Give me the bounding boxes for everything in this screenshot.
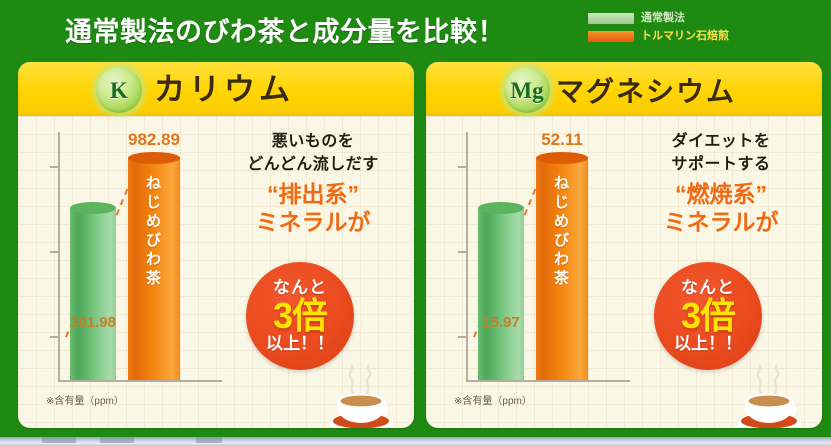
bar-label-char: び [536,231,588,250]
bar-normal-potassium [70,208,116,380]
element-badge-k-icon: K [96,67,142,113]
copy-block-magnesium: ダイエットを サポートする “燃焼系” ミネラルが [626,130,816,236]
bar-body [478,208,524,380]
element-badge-mg-icon: Mg [504,67,550,113]
copy-accent-line: ミネラルが [626,208,816,236]
legend-swatch-normal-icon [588,13,634,24]
legend-item-tourmaline: トルマリン石焙煎 [588,28,788,44]
copy-accent-line: “排出系” [218,180,408,208]
copy-block-potassium: 悪いものを どんどん流しだす “排出系” ミネラルが [218,130,408,236]
bar-label-char: じ [536,193,588,212]
bar-value-normal-potassium: 301.98 [62,314,124,331]
bar-cap [70,202,116,214]
panel-header-magnesium: Mg マグネシウム [426,62,822,116]
legend-label-normal: 通常製法 [641,12,685,24]
bar-label-char: わ [128,250,180,269]
teacup-icon [726,364,812,428]
bar-body [70,208,116,380]
teacup-icon [318,364,404,428]
panel-potassium: K カリウム 301.98 ね じ [18,62,414,428]
bar-label-nejime: ね じ め び わ 茶 [128,174,180,288]
stamp-multiplier: 3倍 [273,297,327,335]
footnote-magnesium: ※含有量（ppm） [454,392,532,407]
bar-label-char: ね [128,174,180,193]
bar-cap [128,152,180,164]
legend: 通常製法 トルマリン石焙煎 [588,10,788,46]
element-symbol-mg: Mg [510,79,543,102]
chrome-nub [42,437,76,443]
stamp-bottom-text: 以上！！ [266,335,334,353]
bar-label-char: 茶 [536,269,588,288]
copy-accent-magnesium: “燃焼系” ミネラルが [626,180,816,236]
bar-value-normal-magnesium: 15.97 [470,314,532,331]
bar-value-nejime-potassium: 982.89 [120,130,188,150]
bar-label-char: じ [128,193,180,212]
copy-accent-potassium: “排出系” ミネラルが [218,180,408,236]
bar-label-char: び [128,231,180,250]
copy-lead-line: どんどん流しだす [218,153,408,176]
copy-accent-line: ミネラルが [218,208,408,236]
footnote-potassium: ※含有量（ppm） [46,392,124,407]
bar-label-char: 茶 [128,269,180,288]
bar-label-char: め [128,212,180,231]
bar-cap [478,202,524,214]
bar-cap [536,152,588,164]
bar-value-nejime-magnesium: 52.11 [528,130,596,150]
legend-label-tourmaline: トルマリン石焙煎 [641,30,729,42]
panel-header-potassium: K カリウム [18,62,414,116]
bar-label-char: わ [536,250,588,269]
panel-title-magnesium: マグネシウム [556,73,736,111]
stamp-3x-potassium: なんと 3倍 以上！！ [246,262,354,370]
bottom-chrome-strip [0,437,831,446]
stamp-bottom-text: 以上！！ [674,335,742,353]
copy-lead-line: 悪いものを [218,130,408,153]
chrome-nub [196,437,222,443]
copy-accent-line: “燃焼系” [626,180,816,208]
panel-magnesium: Mg マグネシウム 15.97 ね じ [426,62,822,428]
bar-normal-magnesium [478,208,524,380]
promo-infographic: 通常製法のびわ茶と成分量を比較！ 通常製法 トルマリン石焙煎 K カリウム [0,0,831,446]
bar-label-char: め [536,212,588,231]
chart-magnesium: 15.97 ね じ め び わ 茶 52.11 [440,124,630,414]
bar-label-nejime: ね じ め び わ 茶 [536,174,588,288]
page-title: 通常製法のびわ茶と成分量を比較！ [0,10,570,49]
legend-item-normal: 通常製法 [588,10,788,26]
panel-title-potassium: カリウム [154,71,294,109]
bar-label-char: ね [536,174,588,193]
bar-nejime-magnesium: ね じ め び わ 茶 [536,158,588,380]
chrome-nub [100,437,134,443]
chart-potassium: 301.98 ね じ め び わ 茶 982.89 [32,124,222,414]
copy-lead-line: ダイエットを [626,130,816,153]
legend-swatch-tourmaline-icon [588,31,634,42]
header: 通常製法のびわ茶と成分量を比較！ 通常製法 トルマリン石焙煎 [0,0,831,58]
bar-nejime-potassium: ね じ め び わ 茶 [128,158,180,380]
element-symbol-k: K [110,79,128,102]
copy-lead-magnesium: ダイエットを サポートする [626,130,816,176]
copy-lead-potassium: 悪いものを どんどん流しだす [218,130,408,176]
copy-lead-line: サポートする [626,153,816,176]
stamp-multiplier: 3倍 [681,297,735,335]
stamp-3x-magnesium: なんと 3倍 以上！！ [654,262,762,370]
